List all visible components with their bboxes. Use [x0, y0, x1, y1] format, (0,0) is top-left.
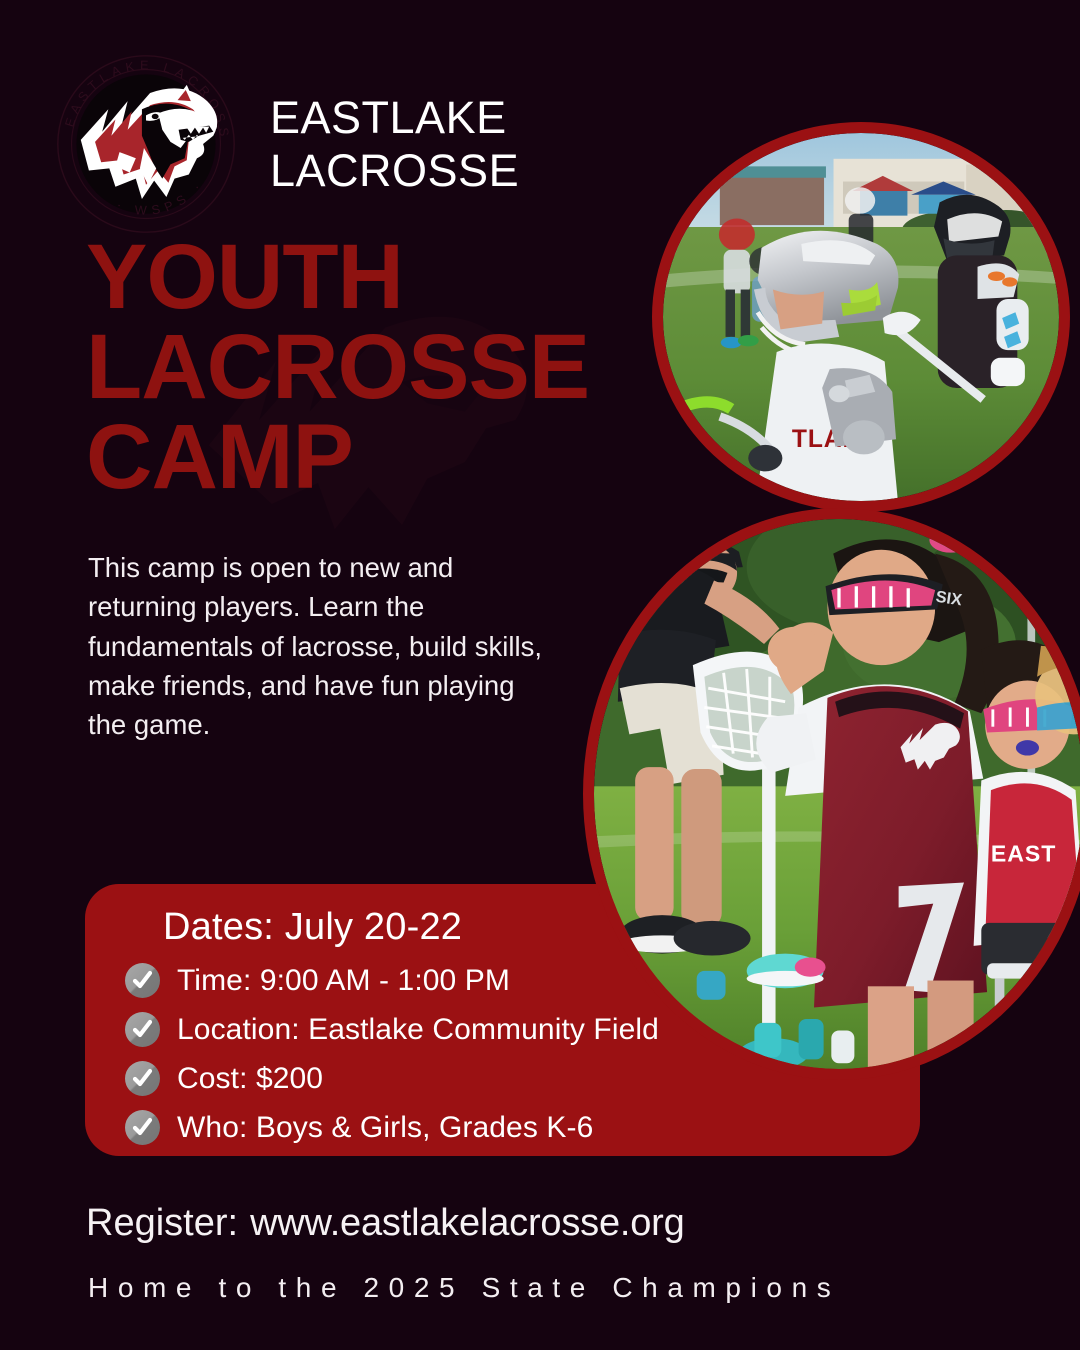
check-icon — [125, 1061, 160, 1096]
detail-label: Who: Boys & Girls, Grades K-6 — [177, 1111, 593, 1145]
check-icon — [125, 1012, 160, 1047]
camp-description: This camp is open to new and returning p… — [88, 548, 558, 745]
detail-label: Location: Eastlake Community Field — [177, 1013, 659, 1047]
check-icon — [125, 1110, 160, 1145]
register-line: Register:www.eastlakelacrosse.org — [86, 1202, 685, 1245]
eastlake-wolf-head-logo: EASTLAKE LACROSSE · WSPS · — [48, 46, 244, 242]
photo-boys-lacrosse-game: TLAKE — [652, 122, 1070, 512]
poster-canvas: EASTLAKE LACROSSE · WSPS · — [0, 0, 1080, 1350]
photo-girls-lacrosse-clinic-image: SIX — [594, 519, 1080, 1069]
detail-label: Cost: $200 — [177, 1062, 323, 1096]
champions-tagline: Home to the 2025 State Champions — [88, 1272, 840, 1304]
photo-girls-lacrosse-clinic: SIX — [583, 508, 1080, 1080]
logo-ring-icon: EASTLAKE LACROSSE · WSPS · — [48, 46, 244, 242]
brand-wordmark: EASTLAKE LACROSSE — [270, 91, 519, 197]
svg-text:EAST: EAST — [991, 840, 1056, 866]
register-label: Register: — [86, 1202, 238, 1244]
check-icon — [125, 963, 160, 998]
register-url[interactable]: www.eastlakelacrosse.org — [250, 1202, 685, 1244]
page-title: YOUTH LACROSSE CAMP — [86, 232, 589, 502]
photo-boys-lacrosse-game-image: TLAKE — [663, 133, 1059, 501]
brand-logo-block: EASTLAKE LACROSSE · WSPS · — [48, 46, 519, 242]
svg-text:SIX: SIX — [935, 588, 964, 610]
detail-label: Time: 9:00 AM - 1:00 PM — [177, 964, 510, 998]
detail-row: Who: Boys & Girls, Grades K-6 — [125, 1110, 920, 1145]
